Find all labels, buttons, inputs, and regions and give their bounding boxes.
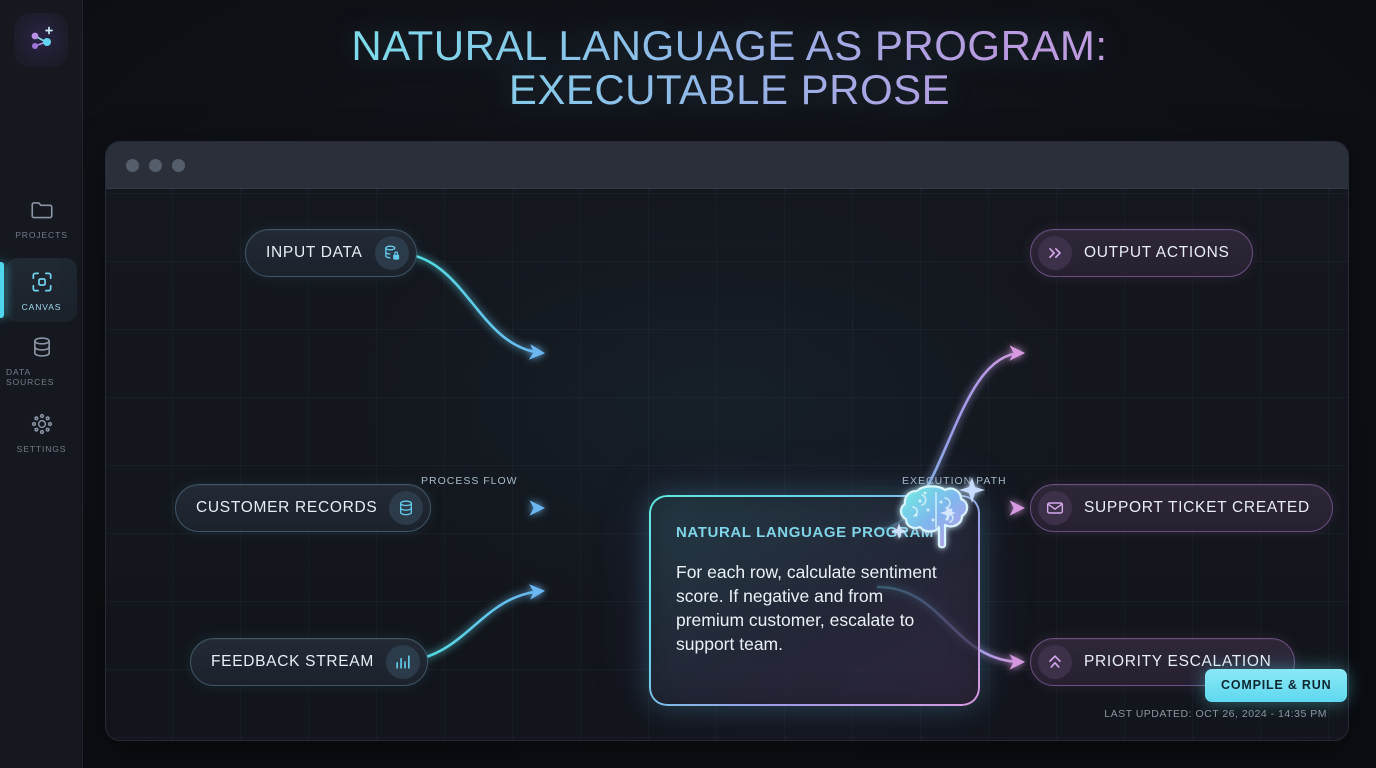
sidebar-item-label: DATA SOURCES: [6, 367, 77, 387]
page-title-line-2: EXECUTABLE PROSE: [83, 68, 1376, 112]
node-label: INPUT DATA: [266, 244, 363, 262]
frame-icon: [29, 269, 55, 295]
flow-canvas[interactable]: PROCESS FLOW EXECUTION PATH INPUT DATA C…: [106, 189, 1349, 741]
sidebar-item-label: CANVAS: [22, 302, 62, 312]
page-title-line-1: NATURAL LANGUAGE AS PROGRAM:: [351, 22, 1107, 69]
database-icon: [389, 491, 423, 525]
gear-icon: [29, 411, 55, 437]
brain-icon: [889, 465, 985, 557]
node-customer-records[interactable]: CUSTOMER RECORDS: [175, 484, 431, 532]
canvas-window: PROCESS FLOW EXECUTION PATH INPUT DATA C…: [105, 141, 1349, 741]
program-card-body: For each row, calculate sentiment score.…: [676, 560, 954, 656]
node-label: OUTPUT ACTIONS: [1084, 244, 1230, 262]
node-feedback-stream[interactable]: FEEDBACK STREAM: [190, 638, 428, 686]
sidebar-item-label: SETTINGS: [17, 444, 67, 454]
window-titlebar: [106, 142, 1348, 189]
database-lock-icon: [375, 236, 409, 270]
sidebar-item-settings[interactable]: SETTINGS: [6, 400, 77, 464]
network-plus-icon: [26, 25, 56, 55]
node-label: CUSTOMER RECORDS: [196, 499, 377, 517]
node-label: FEEDBACK STREAM: [211, 653, 374, 671]
app-root: PROJECTS CANVAS DATA SOURCES: [0, 0, 1376, 768]
node-input-data[interactable]: INPUT DATA: [245, 229, 417, 277]
page-title: NATURAL LANGUAGE AS PROGRAM: EXECUTABLE …: [83, 24, 1376, 112]
sidebar-item-canvas[interactable]: CANVAS: [6, 258, 77, 322]
database-icon: [29, 334, 55, 360]
node-label: SUPPORT TICKET CREATED: [1084, 499, 1310, 517]
sidebar-item-data-sources[interactable]: DATA SOURCES: [6, 328, 77, 392]
double-chevron-up-icon: [1038, 645, 1072, 679]
window-dot-minimize[interactable]: [149, 159, 162, 172]
window-dot-maximize[interactable]: [172, 159, 185, 172]
sidebar-item-label: PROJECTS: [15, 230, 68, 240]
envelope-icon: [1038, 491, 1072, 525]
node-support-ticket-created[interactable]: SUPPORT TICKET CREATED: [1030, 484, 1333, 532]
double-chevron-right-icon: [1038, 236, 1072, 270]
folder-icon: [29, 197, 55, 223]
compile-and-run-button[interactable]: COMPILE & RUN: [1205, 669, 1347, 702]
window-dot-close[interactable]: [126, 159, 139, 172]
bar-chart-icon: [386, 645, 420, 679]
app-logo[interactable]: [14, 13, 68, 67]
last-updated-text: LAST UPDATED: OCT 26, 2024 - 14:35 PM: [1104, 708, 1327, 720]
node-output-actions[interactable]: OUTPUT ACTIONS: [1030, 229, 1253, 277]
sidebar: PROJECTS CANVAS DATA SOURCES: [0, 0, 83, 768]
sidebar-item-projects[interactable]: PROJECTS: [6, 186, 77, 250]
edge-label-process-flow: PROCESS FLOW: [421, 475, 518, 487]
